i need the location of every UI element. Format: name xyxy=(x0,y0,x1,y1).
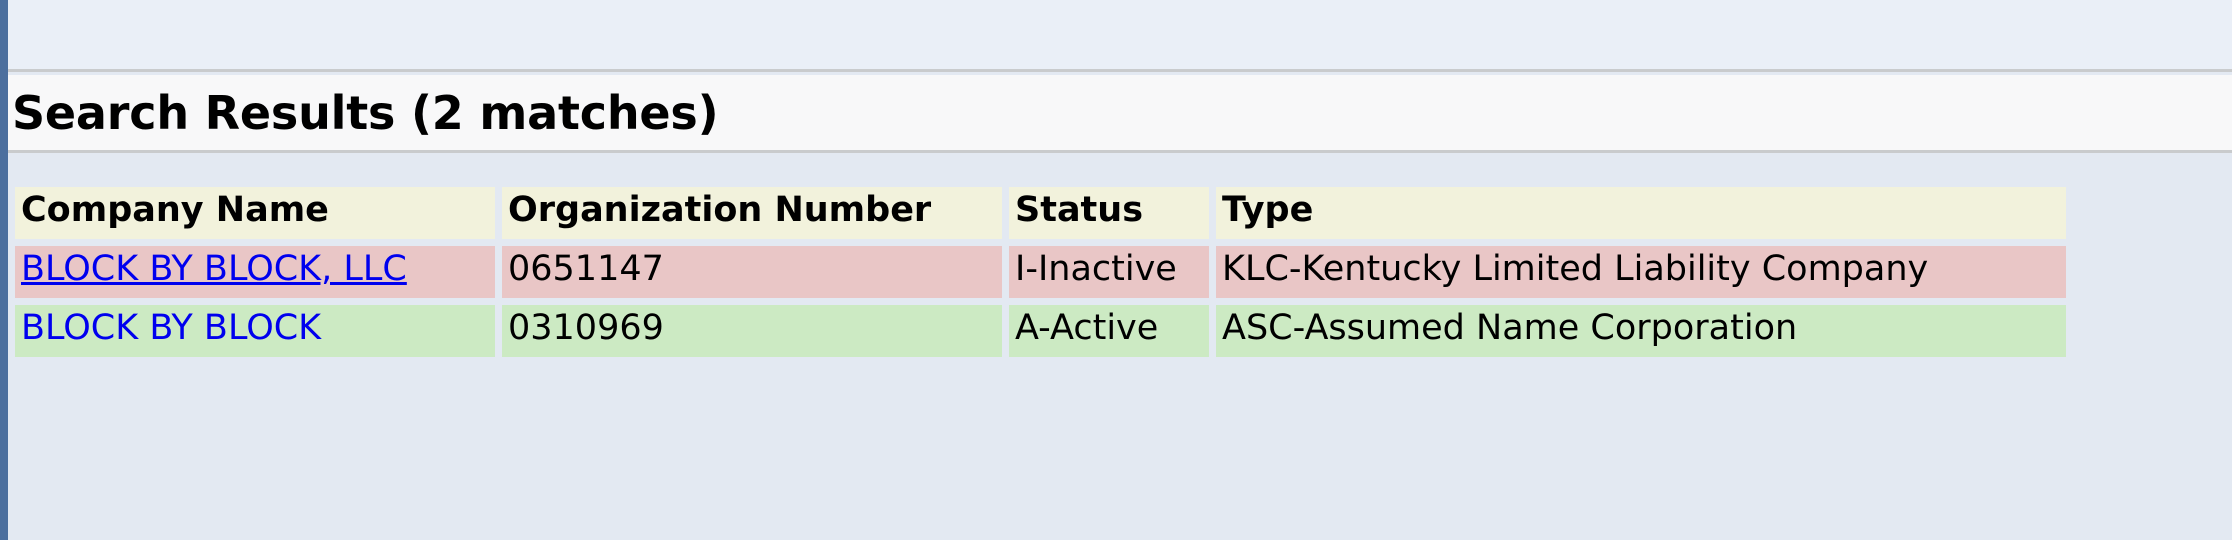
cell-entity-type: KLC-Kentucky Limited Liability Company xyxy=(1216,246,2066,298)
cell-company-name: BLOCK BY BLOCK, LLC xyxy=(15,246,495,298)
cell-company-name: BLOCK BY BLOCK xyxy=(15,305,495,357)
status-badge: A-Active xyxy=(1009,305,1209,357)
table-header: Company Name Organization Number Status … xyxy=(15,187,2066,239)
column-header-status[interactable]: Status xyxy=(1009,187,1209,239)
cell-organization-number: 0651147 xyxy=(502,246,1002,298)
column-header-type[interactable]: Type xyxy=(1216,187,2066,239)
top-spacer-strip xyxy=(8,0,2232,72)
search-results-page: Search Results (2 matches) Company Name … xyxy=(0,0,2232,540)
table-body: BLOCK BY BLOCK, LLC 0651147 I-Inactive K… xyxy=(15,246,2066,357)
company-name-link[interactable]: BLOCK BY BLOCK, LLC xyxy=(21,249,407,289)
company-name-text[interactable]: BLOCK BY BLOCK xyxy=(21,308,321,348)
column-header-company-name[interactable]: Company Name xyxy=(15,187,495,239)
status-badge: I-Inactive xyxy=(1009,246,1209,298)
table-row: BLOCK BY BLOCK, LLC 0651147 I-Inactive K… xyxy=(15,246,2066,298)
table-row: BLOCK BY BLOCK 0310969 A-Active ASC-Assu… xyxy=(15,305,2066,357)
search-results-table: Company Name Organization Number Status … xyxy=(8,180,2073,364)
results-body: Company Name Organization Number Status … xyxy=(8,156,2232,540)
left-accent-rail xyxy=(0,0,8,540)
cell-entity-type: ASC-Assumed Name Corporation xyxy=(1216,305,2066,357)
column-header-organization-number[interactable]: Organization Number xyxy=(502,187,1002,239)
cell-organization-number: 0310969 xyxy=(502,305,1002,357)
page-title: Search Results (2 matches) xyxy=(8,90,718,136)
table-header-row: Company Name Organization Number Status … xyxy=(15,187,2066,239)
results-heading-band: Search Results (2 matches) xyxy=(8,75,2232,153)
